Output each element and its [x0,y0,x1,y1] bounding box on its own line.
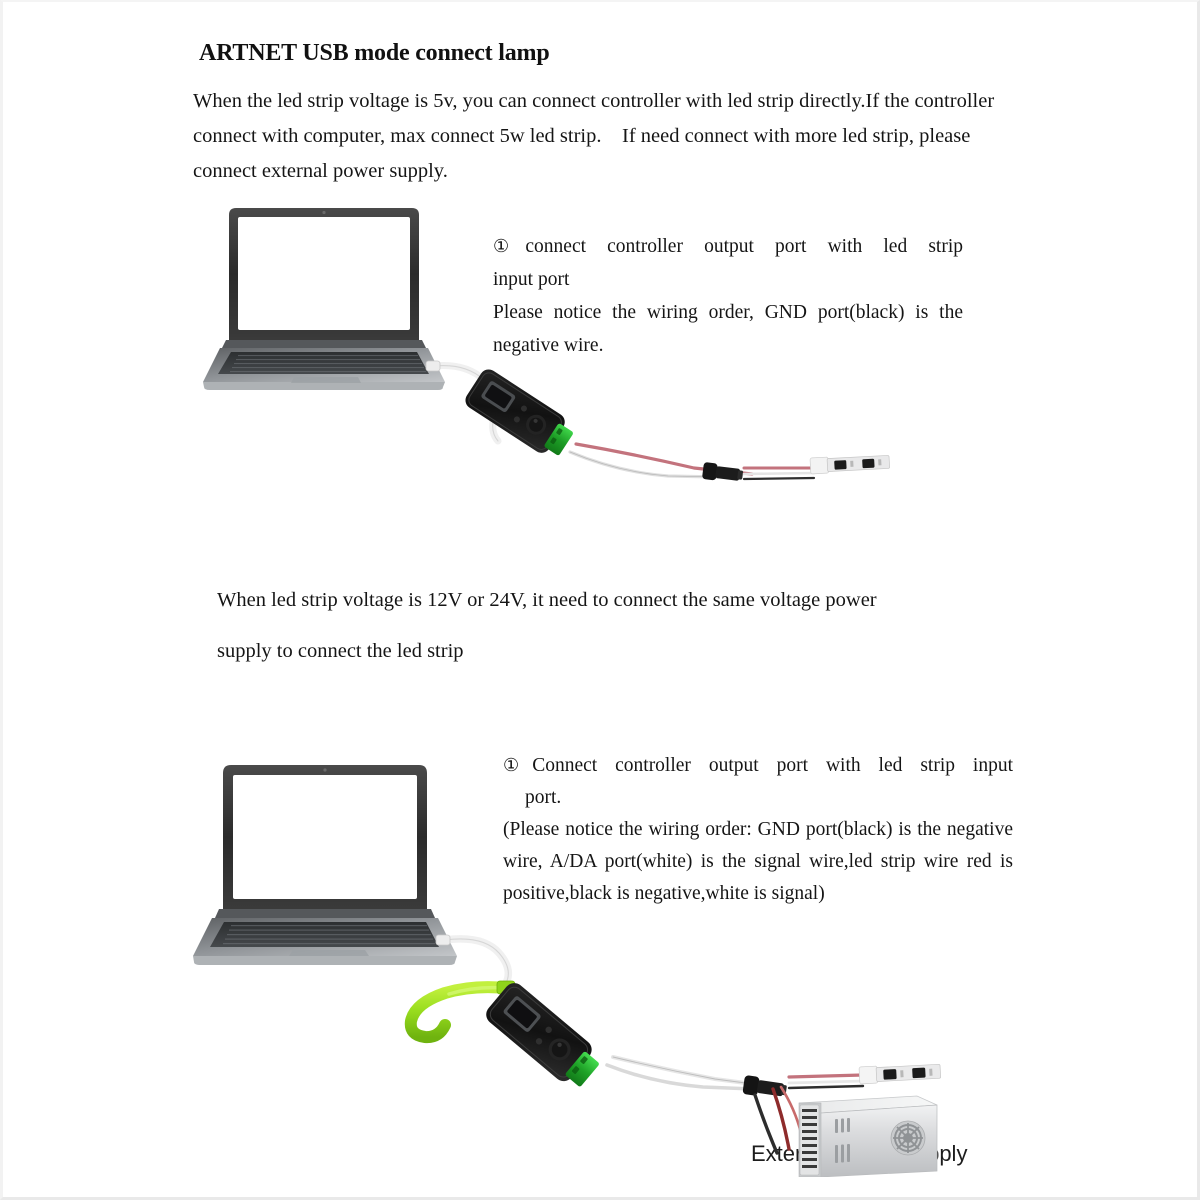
page-canvas: ARTNET USB mode connect lamp When the le… [0,0,1200,1200]
artnet-usb-controller [462,366,578,463]
psu-black-wire [755,1095,777,1153]
artnet-usb-controller [482,979,606,1094]
laptop-lid [223,765,427,909]
white-wire [613,1057,761,1085]
middle-paragraph-line-2: supply to connect the led strip [217,626,977,677]
middle-paragraph-line-1: When led strip voltage is 12V or 24V, it… [217,575,977,626]
black-inline-connector [702,462,744,484]
led-strip [859,1063,941,1084]
laptop-base [203,348,445,390]
intro-paragraph: When the led strip voltage is 5v, you ca… [193,84,1008,189]
page-title: ARTNET USB mode connect lamp [199,40,549,67]
usb-plug [436,935,450,945]
terminal-block [800,1105,819,1175]
led-strip [810,454,890,474]
led-chip [883,1069,897,1080]
laptop-lid [229,208,419,340]
figure2-illustration [183,757,963,1177]
fan-grille [891,1121,925,1155]
external-power-supply [799,1096,937,1177]
laptop-base [193,918,457,965]
led-chip [834,460,846,470]
figure1-illustration [198,200,898,510]
usb-plug [426,361,440,371]
middle-paragraph: When led strip voltage is 12V or 24V, it… [217,575,977,677]
led-chip [912,1068,926,1079]
led-chip [862,459,874,469]
